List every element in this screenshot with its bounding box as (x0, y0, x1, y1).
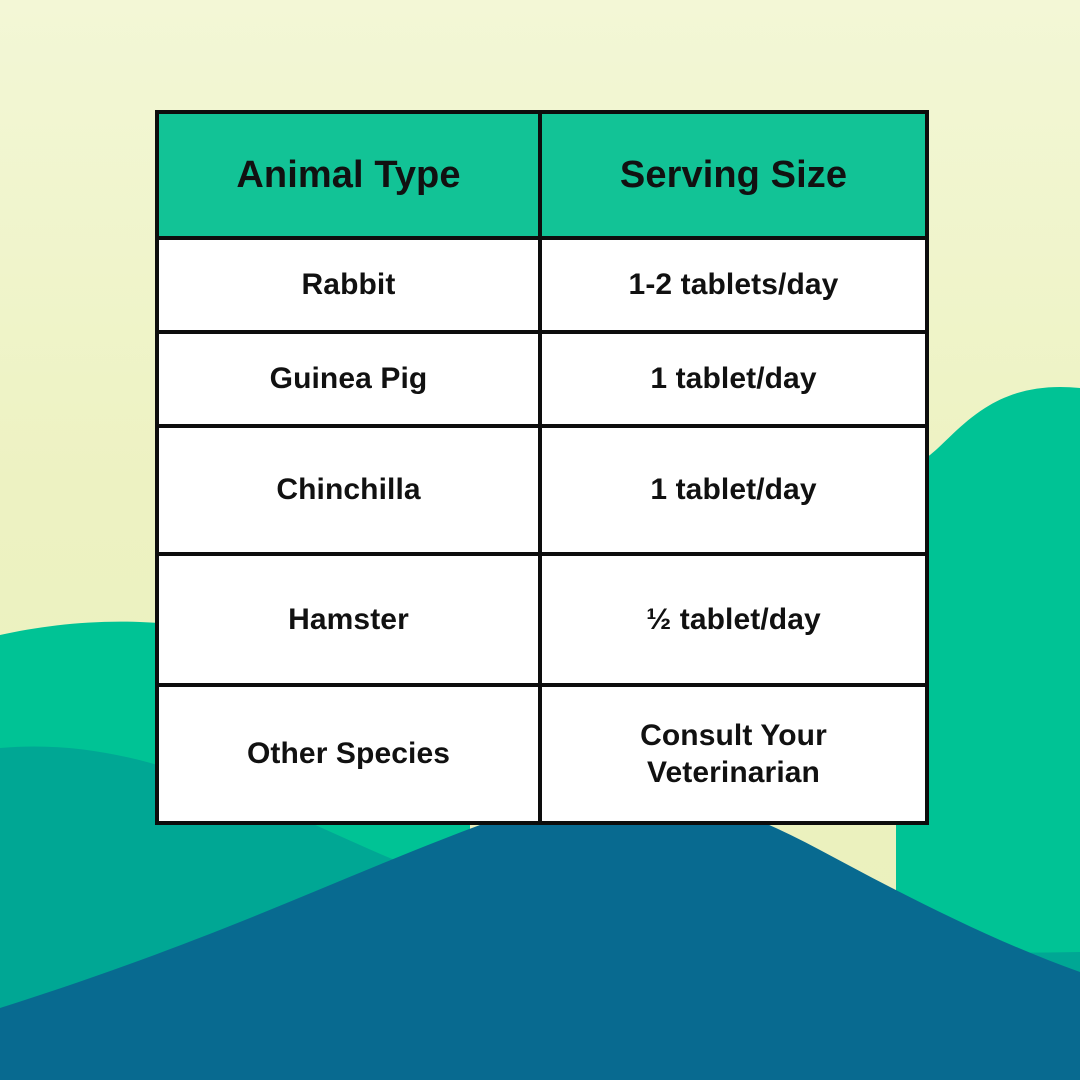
cell-animal-type-label: Chinchilla (173, 471, 524, 509)
cell-animal-type: Other Species (157, 685, 540, 823)
table-row: Guinea Pig 1 tablet/day (157, 332, 927, 426)
table-row: Other Species Consult Your Veterinarian (157, 685, 927, 823)
column-header-serving-size: Serving Size (540, 112, 927, 238)
table-row: Hamster ½ tablet/day (157, 554, 927, 685)
cell-animal-type: Rabbit (157, 238, 540, 332)
table-container: Animal Type Serving Size Rabbit 1-2 tabl… (155, 110, 925, 825)
cell-animal-type: Guinea Pig (157, 332, 540, 426)
column-header-serving-size-label: Serving Size (556, 154, 911, 197)
cell-serving-size-label: 1-2 tablets/day (556, 266, 911, 304)
cell-serving-size: Consult Your Veterinarian (540, 685, 927, 823)
screenshot-canvas: Animal Type Serving Size Rabbit 1-2 tabl… (0, 0, 1080, 1080)
cell-animal-type: Hamster (157, 554, 540, 685)
table-row: Rabbit 1-2 tablets/day (157, 238, 927, 332)
table-header-row: Animal Type Serving Size (157, 112, 927, 238)
cell-animal-type-label: Rabbit (173, 266, 524, 304)
cell-serving-size-label: ½ tablet/day (556, 601, 911, 639)
table-header: Animal Type Serving Size (157, 112, 927, 238)
cell-animal-type-label: Guinea Pig (173, 360, 524, 398)
serving-size-table: Animal Type Serving Size Rabbit 1-2 tabl… (155, 110, 929, 825)
cell-serving-size-label: Consult Your Veterinarian (556, 717, 911, 792)
column-header-animal-type-label: Animal Type (173, 154, 524, 197)
table-row: Chinchilla 1 tablet/day (157, 426, 927, 554)
cell-serving-size: 1 tablet/day (540, 332, 927, 426)
cell-serving-size: 1 tablet/day (540, 426, 927, 554)
cell-animal-type-label: Hamster (173, 601, 524, 639)
cell-serving-size-label: 1 tablet/day (556, 471, 911, 509)
cell-serving-size: ½ tablet/day (540, 554, 927, 685)
cell-animal-type: Chinchilla (157, 426, 540, 554)
cell-serving-size-label: 1 tablet/day (556, 360, 911, 398)
table-body: Rabbit 1-2 tablets/day Guinea Pig 1 tabl… (157, 238, 927, 823)
cell-serving-size: 1-2 tablets/day (540, 238, 927, 332)
cell-animal-type-label: Other Species (173, 735, 524, 773)
column-header-animal-type: Animal Type (157, 112, 540, 238)
